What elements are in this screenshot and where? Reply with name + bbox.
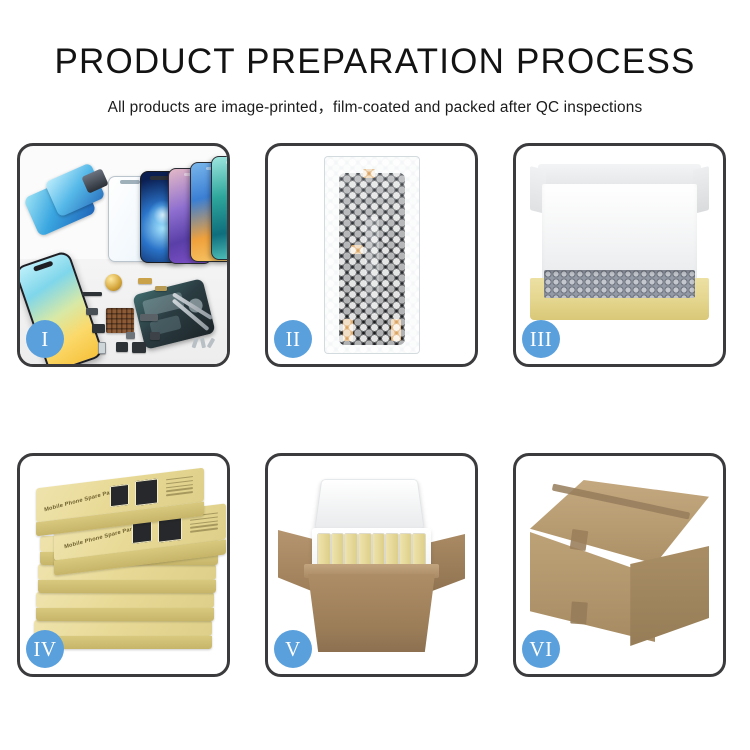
step-badge-4: IV — [26, 630, 64, 668]
component-part — [150, 332, 160, 340]
product-preparation-infographic: PRODUCT PREPARATION PROCESS All products… — [0, 0, 750, 750]
carton-body — [308, 574, 435, 652]
phone-teal-icon — [211, 156, 227, 260]
component-part — [155, 286, 167, 291]
step-panel-2-bubble-wrap: II — [265, 143, 478, 367]
step-badge-3: III — [522, 320, 560, 358]
carton-tape-top — [570, 529, 589, 551]
component-part — [82, 292, 102, 296]
grey-bubble-wrap-contents — [544, 270, 695, 298]
step-badge-6: VI — [522, 630, 560, 668]
box-labelled-back: Mobile Phone Spare Parts — [36, 468, 204, 523]
flexible-screen-assembly-icon — [21, 163, 110, 241]
component-part — [126, 332, 135, 339]
box-slab — [36, 592, 214, 608]
carton-tape-bottom — [570, 601, 587, 624]
step-panel-1-phone-parts: I — [17, 143, 230, 367]
component-part — [92, 324, 105, 333]
bubble-texture-offset — [325, 157, 419, 353]
component-part — [138, 278, 152, 284]
page-title: PRODUCT PREPARATION PROCESS — [0, 0, 750, 82]
sealed-carton-icon — [530, 480, 709, 654]
box-slab — [34, 620, 212, 636]
box-spec-lines — [166, 476, 193, 498]
screws-group-icon — [193, 338, 217, 352]
step-badge-2: II — [274, 320, 312, 358]
bubble-wrap-bag-icon — [324, 156, 420, 354]
step-panel-5-carton-with-foam: V — [265, 453, 478, 677]
component-part — [116, 342, 128, 352]
screen-chip — [81, 168, 108, 193]
gold-coil-icon — [105, 274, 122, 291]
step-badge-5: V — [274, 630, 312, 668]
phone-notch — [33, 261, 54, 272]
tweezers-icon — [173, 288, 219, 332]
step-badge-1: I — [26, 320, 64, 358]
box-window-1 — [110, 484, 129, 507]
box-label-text: Mobile Phone Spare Parts — [44, 488, 118, 513]
component-part — [132, 342, 146, 353]
open-flat-box-icon — [530, 164, 709, 330]
component-part — [98, 342, 106, 354]
step-panel-6-sealed-carton: VI — [513, 453, 726, 677]
component-part — [140, 314, 158, 321]
carton-side-face — [630, 546, 709, 646]
glass-notch — [120, 180, 140, 184]
component-part — [86, 308, 98, 315]
page-subtitle: All products are image-printed，film-coat… — [0, 82, 750, 117]
chip-grid-icon — [106, 308, 134, 333]
open-carton-icon — [278, 472, 465, 652]
step-panel-4-stacked-boxes: Mobile Phone Spare Parts Mobile Phon — [17, 453, 230, 677]
foam-box-lid — [314, 479, 425, 531]
step-panel-3-open-flat-box: III — [513, 143, 726, 367]
process-steps-grid: I II — [17, 143, 727, 677]
box-window-2 — [135, 478, 158, 506]
header: PRODUCT PREPARATION PROCESS All products… — [0, 0, 750, 117]
